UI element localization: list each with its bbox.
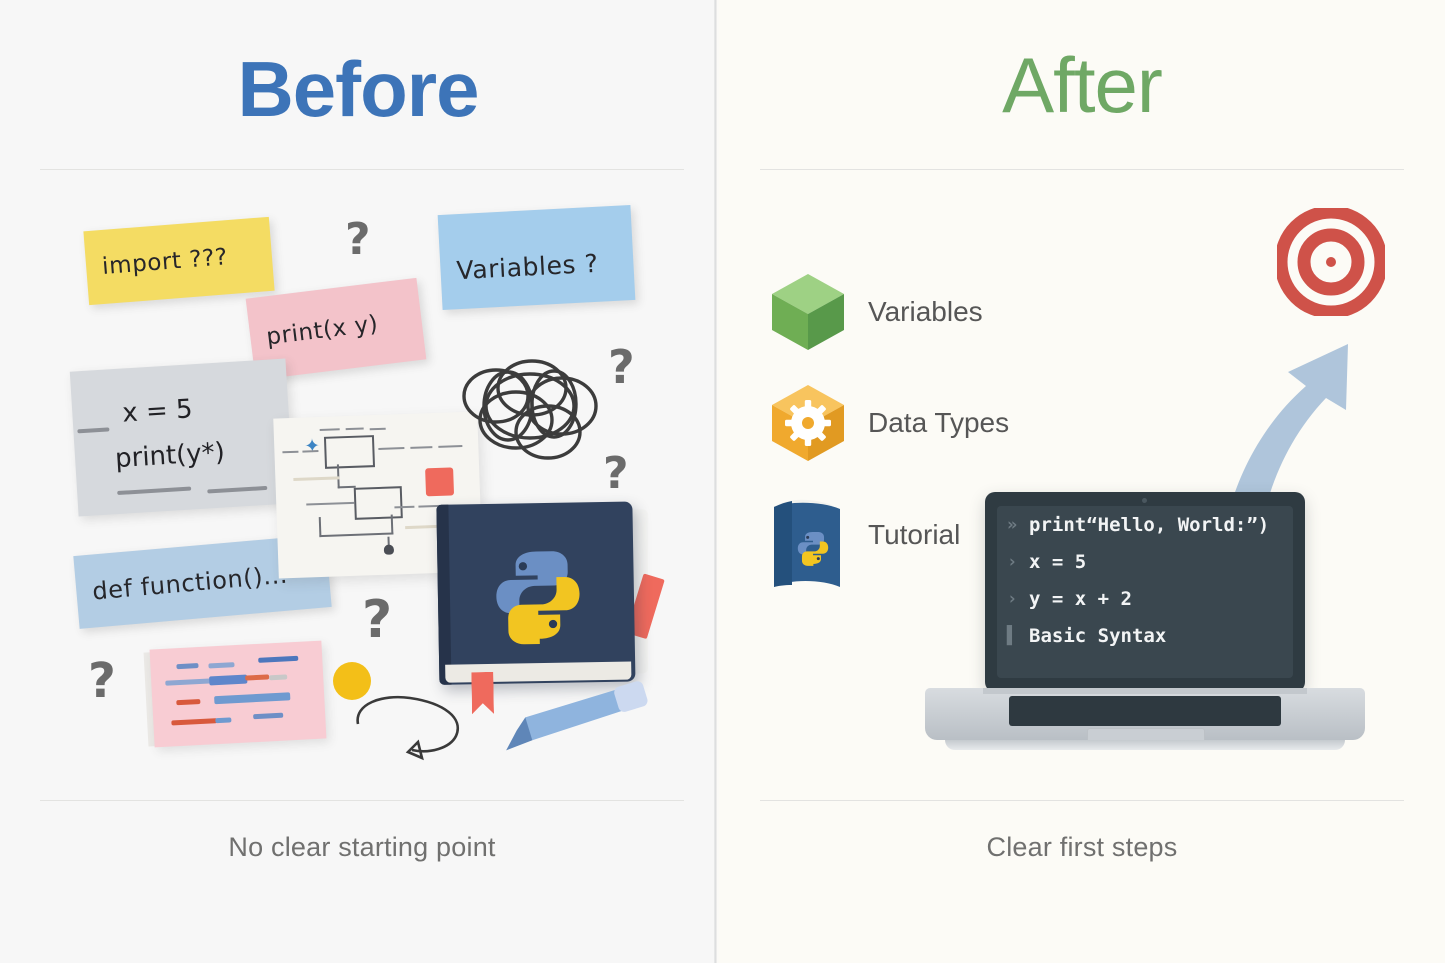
- before-caption: No clear starting point: [40, 832, 684, 863]
- sticky-note-variables: Variables ?: [438, 205, 636, 310]
- code-line-text: print“Hello, World:”): [1029, 514, 1269, 536]
- code-gutter-icon: ▌: [1007, 626, 1029, 646]
- feature-data-types: Data Types: [770, 383, 1009, 463]
- laptop-lid: » print“Hello, World:”) › x = 5 › y = x …: [985, 492, 1305, 692]
- feature-variables: Variables: [770, 272, 983, 352]
- code-line: » print“Hello, World:”): [997, 506, 1293, 543]
- laptop-camera-icon: [1142, 498, 1147, 503]
- laptop-hinge: [983, 688, 1307, 694]
- laptop-keyboard: [1009, 696, 1281, 726]
- after-caption: Clear first steps: [760, 832, 1404, 863]
- before-bottom-divider: [40, 800, 684, 801]
- green-cube-icon: [770, 272, 846, 352]
- question-mark-icon: ?: [603, 448, 629, 499]
- laptop-foot: [945, 740, 1345, 750]
- feature-data-types-label: Data Types: [868, 407, 1009, 439]
- sticky-note-import-text: import ???: [85, 243, 244, 281]
- sticky-note-import: import ???: [83, 217, 274, 305]
- book-ribbon: [471, 672, 494, 714]
- question-mark-icon: ?: [362, 590, 392, 650]
- laptop-device: » print“Hello, World:”) › x = 5 › y = x …: [925, 492, 1365, 760]
- python-logo-icon: [485, 542, 591, 648]
- code-gutter-icon: »: [1007, 515, 1029, 535]
- feature-variables-label: Variables: [868, 296, 983, 328]
- sticky-note-variables-text: Variables ?: [439, 230, 615, 286]
- before-title: Before: [0, 50, 716, 128]
- orange-gear-cube-icon: [770, 383, 846, 463]
- comparison-infographic: Before import ??? print(x y) Variables ?…: [0, 0, 1445, 963]
- code-line-text: Basic Syntax: [1029, 625, 1166, 647]
- code-line-text: x = 5: [1029, 551, 1086, 573]
- gray-code-paper: x = 5 print(y*): [70, 359, 294, 517]
- sticky-note-print-text: print(x y): [249, 309, 396, 352]
- pink-code-paper: [150, 641, 327, 748]
- before-top-divider: [40, 169, 684, 170]
- after-top-divider: [760, 169, 1404, 170]
- after-title: After: [719, 46, 1445, 124]
- gray-paper-line-1: x = 5: [122, 394, 194, 428]
- scribble-ball-icon: [444, 348, 619, 478]
- laptop-screen: » print“Hello, World:”) › x = 5 › y = x …: [997, 506, 1293, 678]
- before-panel: Before import ??? print(x y) Variables ?…: [0, 0, 716, 963]
- gray-paper-dash: [207, 486, 267, 494]
- code-gutter-icon: ›: [1007, 589, 1029, 609]
- after-bottom-divider: [760, 800, 1404, 801]
- python-book-icon: [770, 495, 846, 575]
- code-line: › y = x + 2: [997, 580, 1293, 617]
- gray-paper-line-2: print(y*): [114, 437, 225, 474]
- code-line: › x = 5: [997, 543, 1293, 580]
- question-mark-icon: ?: [608, 340, 635, 394]
- gray-paper-dash: [117, 487, 191, 496]
- code-gutter-icon: ›: [1007, 552, 1029, 572]
- question-mark-icon: ?: [88, 653, 116, 709]
- panel-divider: [714, 0, 717, 963]
- gray-paper-dash: [77, 427, 109, 433]
- question-mark-icon: ?: [345, 214, 371, 265]
- flowchart-box: [354, 486, 403, 520]
- sticky-note-def-function-text: def function()...: [75, 559, 305, 607]
- code-line-text: y = x + 2: [1029, 588, 1132, 610]
- curved-arrow-icon: [352, 690, 472, 770]
- flowchart-box: [324, 435, 375, 469]
- python-book: [436, 501, 654, 695]
- blue-star-icon: ✦: [304, 435, 321, 459]
- code-line: ▌ Basic Syntax: [997, 617, 1293, 654]
